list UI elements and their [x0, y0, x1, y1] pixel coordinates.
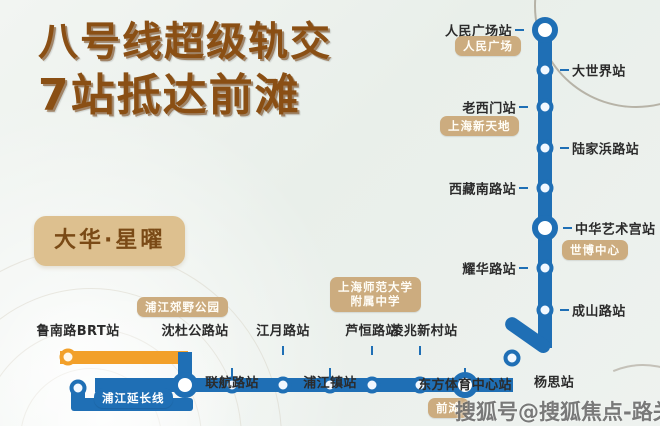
- station-label-laoximen: 老西门站: [462, 98, 516, 117]
- watermark: 搜狐号@搜狐焦点-路关站: [455, 396, 660, 426]
- station-tick: [560, 69, 569, 71]
- station-marker-branch-terminus[interactable]: [70, 380, 87, 397]
- station-marker-lunan-road-brt[interactable]: [60, 349, 77, 366]
- station-marker-luheng-road[interactable]: [364, 377, 381, 394]
- station-marker-laoximen[interactable]: [537, 99, 554, 116]
- branch-line-badge: 浦江延长线: [94, 388, 173, 408]
- poi-badge-xintiandi: 上海新天地: [440, 116, 519, 136]
- poi-badge-line-2: 附属中学: [351, 294, 401, 308]
- station-tick: [519, 187, 528, 189]
- station-marker-lujiabang-road[interactable]: [537, 140, 554, 157]
- poi-badge-renmin-square: 人民广场: [455, 36, 521, 56]
- brand-badge: 大华·星曜: [34, 216, 185, 266]
- poi-badge-pujiang-country-park: 浦江郊野公园: [137, 297, 228, 317]
- station-label-chengshan-road: 成山路站: [572, 301, 626, 320]
- station-tick: [519, 106, 528, 108]
- station-marker-south-xizang-road[interactable]: [537, 180, 554, 197]
- station-marker-china-art-museum[interactable]: [532, 215, 558, 241]
- metro-line-orange: [60, 351, 188, 364]
- station-label-china-art-museum: 中华艺术宫站: [575, 219, 655, 238]
- station-label-shendu-highway: 沈杜公路站: [161, 320, 228, 339]
- poi-badge-shnu-affiliated-school: 上海师范大学 附属中学: [330, 277, 421, 312]
- station-tick: [371, 346, 373, 355]
- station-label-lunan-road-brt: 鲁南路BRT站: [36, 320, 119, 339]
- station-tick: [519, 267, 528, 269]
- station-tick: [560, 309, 569, 311]
- station-label-south-xizang-road: 西藏南路站: [449, 179, 516, 198]
- station-tick: [515, 29, 524, 31]
- station-marker-jiangyue-road[interactable]: [275, 377, 292, 394]
- metro-line-poster: 八号线超级轨交 7站抵达前滩 大华·星曜 人民广场站 人民广场 大世界站 老西门…: [0, 0, 660, 426]
- station-label-dashijie: 大世界站: [572, 61, 626, 80]
- station-marker-chengshan-road[interactable]: [537, 302, 554, 319]
- headline-line-2: 7站抵达前滩: [38, 74, 332, 118]
- station-label-lianhang-road: 联航路站: [205, 372, 259, 391]
- poi-badge-expo-center: 世博中心: [562, 240, 628, 260]
- station-tick: [419, 346, 421, 355]
- station-marker-dashijie[interactable]: [537, 62, 554, 79]
- station-marker-yaohua-road[interactable]: [537, 260, 554, 277]
- station-label-oriental-sports-center: 东方体育中心站: [418, 374, 512, 393]
- station-label-lingzhao-xincun: 凌兆新村站: [390, 320, 457, 339]
- poi-badge-line-1: 上海师范大学: [338, 280, 413, 294]
- station-tick: [563, 227, 572, 229]
- station-label-jiangyue-road: 江月路站: [256, 320, 310, 339]
- headline-block: 八号线超级轨交 7站抵达前滩: [38, 22, 332, 118]
- headline-line-1: 八号线超级轨交: [38, 22, 332, 62]
- station-tick: [282, 346, 284, 355]
- station-label-lujiabang-road: 陆家浜路站: [572, 139, 639, 158]
- station-label-pujiang-town: 浦江镇站: [303, 372, 357, 391]
- station-marker-renmin-square[interactable]: [532, 17, 558, 43]
- station-tick: [560, 147, 569, 149]
- station-marker-yangsi[interactable]: [504, 350, 521, 367]
- station-label-yaohua-road: 耀华路站: [462, 259, 516, 278]
- station-marker-shendu-highway[interactable]: [172, 372, 198, 398]
- station-label-yangsi: 杨思站: [534, 372, 574, 391]
